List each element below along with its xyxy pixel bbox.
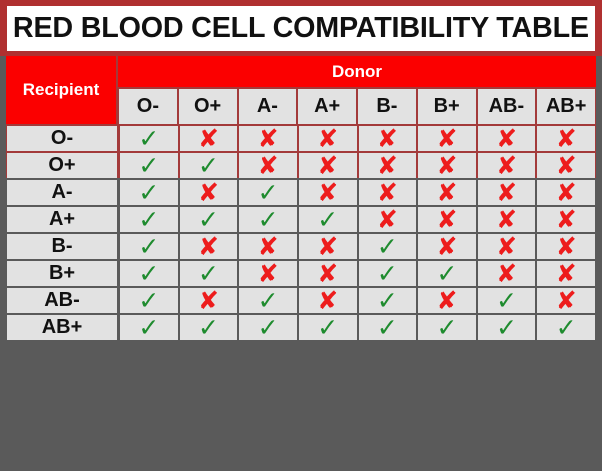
incompatible-cross-icon: ✘ bbox=[556, 207, 577, 232]
table-row: A+✓✓✓✓✘✘✘✘ bbox=[6, 205, 596, 232]
compatibility-cell: ✓ bbox=[299, 315, 357, 340]
incompatible-cross-icon: ✘ bbox=[198, 180, 219, 205]
incompatible-cross-icon: ✘ bbox=[496, 126, 517, 151]
compatibility-cell: ✓ bbox=[120, 153, 178, 178]
compatibility-cell: ✘ bbox=[359, 180, 417, 205]
compatibility-cell: ✘ bbox=[478, 207, 536, 232]
incompatible-cross-icon: ✘ bbox=[496, 261, 517, 286]
compatibility-cell: ✘ bbox=[478, 126, 536, 151]
incompatible-cross-icon: ✘ bbox=[556, 261, 577, 286]
compatibility-cell: ✘ bbox=[537, 153, 595, 178]
compatibility-cell: ✘ bbox=[537, 234, 595, 259]
table-body: O-✓✘✘✘✘✘✘✘O+✓✓✘✘✘✘✘✘A-✓✘✓✘✘✘✘✘A+✓✓✓✓✘✘✘✘… bbox=[6, 124, 596, 340]
compatibility-cell: ✘ bbox=[537, 261, 595, 286]
compatibility-table-figure: RED BLOOD CELL COMPATIBILITY TABLE Recip… bbox=[0, 0, 602, 471]
compatibility-cell: ✓ bbox=[239, 180, 297, 205]
incompatible-cross-icon: ✘ bbox=[496, 180, 517, 205]
compatibility-cell: ✘ bbox=[180, 288, 238, 313]
compatibility-cell: ✘ bbox=[418, 288, 476, 313]
donor-column-header: A- bbox=[239, 89, 297, 124]
recipient-row-header: B+ bbox=[7, 261, 117, 286]
donor-column-header: AB- bbox=[478, 89, 536, 124]
compatibility-cell: ✘ bbox=[180, 234, 238, 259]
compatibility-cell: ✘ bbox=[418, 207, 476, 232]
donor-type-header-row: O-O+A-A+B-B+AB-AB+ bbox=[118, 87, 596, 124]
incompatible-cross-icon: ✘ bbox=[377, 126, 398, 151]
compatibility-cell: ✓ bbox=[180, 261, 238, 286]
compatible-check-icon: ✓ bbox=[317, 207, 338, 232]
compatible-check-icon: ✓ bbox=[496, 288, 517, 313]
compatibility-cell: ✘ bbox=[359, 126, 417, 151]
compatible-check-icon: ✓ bbox=[138, 126, 159, 151]
incompatible-cross-icon: ✘ bbox=[556, 288, 577, 313]
compatible-check-icon: ✓ bbox=[377, 288, 398, 313]
incompatible-cross-icon: ✘ bbox=[436, 234, 457, 259]
compatibility-cell: ✘ bbox=[299, 288, 357, 313]
compatibility-cell: ✘ bbox=[418, 126, 476, 151]
incompatible-cross-icon: ✘ bbox=[496, 153, 517, 178]
compatibility-cell: ✘ bbox=[537, 180, 595, 205]
recipient-row-header: A+ bbox=[7, 207, 117, 232]
table-row: O-✓✘✘✘✘✘✘✘ bbox=[6, 124, 596, 151]
compatibility-cell: ✘ bbox=[359, 153, 417, 178]
incompatible-cross-icon: ✘ bbox=[436, 288, 457, 313]
table-header: Recipient Donor O-O+A-A+B-B+AB-AB+ bbox=[6, 56, 596, 124]
title-bar: RED BLOOD CELL COMPATIBILITY TABLE bbox=[0, 0, 602, 56]
compatibility-cell: ✘ bbox=[418, 180, 476, 205]
incompatible-cross-icon: ✘ bbox=[198, 288, 219, 313]
compatibility-cell: ✓ bbox=[120, 234, 178, 259]
donor-column-header: O+ bbox=[179, 89, 237, 124]
compatibility-cell: ✘ bbox=[239, 261, 297, 286]
incompatible-cross-icon: ✘ bbox=[258, 261, 279, 286]
compatibility-cell: ✓ bbox=[120, 288, 178, 313]
incompatible-cross-icon: ✘ bbox=[317, 153, 338, 178]
recipient-row-header: O- bbox=[7, 126, 117, 151]
recipient-axis-label: Recipient bbox=[6, 56, 116, 124]
incompatible-cross-icon: ✘ bbox=[317, 180, 338, 205]
incompatible-cross-icon: ✘ bbox=[436, 153, 457, 178]
compatible-check-icon: ✓ bbox=[436, 315, 457, 340]
incompatible-cross-icon: ✘ bbox=[436, 126, 457, 151]
compatibility-cell: ✘ bbox=[478, 153, 536, 178]
donor-column-header: B- bbox=[358, 89, 416, 124]
compatibility-cell: ✘ bbox=[478, 180, 536, 205]
compatible-check-icon: ✓ bbox=[258, 207, 279, 232]
donor-column-header: B+ bbox=[418, 89, 476, 124]
recipient-row-header: AB+ bbox=[7, 315, 117, 340]
compatible-check-icon: ✓ bbox=[377, 234, 398, 259]
donor-header-group: Donor O-O+A-A+B-B+AB-AB+ bbox=[118, 56, 596, 124]
compatibility-cell: ✘ bbox=[180, 180, 238, 205]
compatibility-cell: ✓ bbox=[299, 207, 357, 232]
compatible-check-icon: ✓ bbox=[138, 261, 159, 286]
incompatible-cross-icon: ✘ bbox=[317, 234, 338, 259]
incompatible-cross-icon: ✘ bbox=[377, 207, 398, 232]
compatibility-grid: Recipient Donor O-O+A-A+B-B+AB-AB+ O-✓✘✘… bbox=[0, 56, 602, 471]
incompatible-cross-icon: ✘ bbox=[377, 153, 398, 178]
compatibility-cell: ✘ bbox=[180, 126, 238, 151]
compatibility-cell: ✓ bbox=[418, 315, 476, 340]
compatible-check-icon: ✓ bbox=[377, 315, 398, 340]
compatibility-cell: ✘ bbox=[239, 234, 297, 259]
compatibility-cell: ✓ bbox=[239, 288, 297, 313]
compatibility-cell: ✓ bbox=[120, 207, 178, 232]
compatible-check-icon: ✓ bbox=[198, 261, 219, 286]
incompatible-cross-icon: ✘ bbox=[496, 207, 517, 232]
incompatible-cross-icon: ✘ bbox=[556, 234, 577, 259]
compatibility-cell: ✘ bbox=[299, 153, 357, 178]
compatibility-cell: ✘ bbox=[478, 261, 536, 286]
compatible-check-icon: ✓ bbox=[138, 315, 159, 340]
incompatible-cross-icon: ✘ bbox=[317, 261, 338, 286]
compatible-check-icon: ✓ bbox=[377, 261, 398, 286]
compatibility-cell: ✓ bbox=[120, 261, 178, 286]
compatibility-cell: ✘ bbox=[537, 126, 595, 151]
compatibility-cell: ✘ bbox=[478, 234, 536, 259]
compatibility-cell: ✓ bbox=[537, 315, 595, 340]
compatibility-cell: ✓ bbox=[239, 207, 297, 232]
compatibility-cell: ✘ bbox=[299, 126, 357, 151]
compatible-check-icon: ✓ bbox=[198, 153, 219, 178]
compatibility-cell: ✘ bbox=[418, 153, 476, 178]
compatible-check-icon: ✓ bbox=[198, 315, 219, 340]
donor-column-header: O- bbox=[119, 89, 177, 124]
recipient-row-header: A- bbox=[7, 180, 117, 205]
compatible-check-icon: ✓ bbox=[556, 315, 577, 340]
table-row: AB-✓✘✓✘✓✘✓✘ bbox=[6, 286, 596, 313]
incompatible-cross-icon: ✘ bbox=[198, 234, 219, 259]
table-row: A-✓✘✓✘✘✘✘✘ bbox=[6, 178, 596, 205]
compatibility-cell: ✓ bbox=[120, 126, 178, 151]
compatible-check-icon: ✓ bbox=[258, 315, 279, 340]
donor-column-header: AB+ bbox=[537, 89, 595, 124]
compatibility-cell: ✘ bbox=[537, 288, 595, 313]
compatibility-cell: ✓ bbox=[120, 180, 178, 205]
compatibility-cell: ✓ bbox=[418, 261, 476, 286]
incompatible-cross-icon: ✘ bbox=[556, 180, 577, 205]
incompatible-cross-icon: ✘ bbox=[258, 234, 279, 259]
incompatible-cross-icon: ✘ bbox=[258, 126, 279, 151]
incompatible-cross-icon: ✘ bbox=[317, 126, 338, 151]
donor-axis-label: Donor bbox=[118, 56, 596, 87]
compatible-check-icon: ✓ bbox=[258, 288, 279, 313]
recipient-row-header: AB- bbox=[7, 288, 117, 313]
title-plate: RED BLOOD CELL COMPATIBILITY TABLE bbox=[7, 6, 595, 51]
compatibility-cell: ✘ bbox=[418, 234, 476, 259]
compatibility-cell: ✘ bbox=[299, 261, 357, 286]
compatible-check-icon: ✓ bbox=[138, 288, 159, 313]
compatibility-cell: ✘ bbox=[359, 207, 417, 232]
table-row: O+✓✓✘✘✘✘✘✘ bbox=[6, 151, 596, 178]
compatibility-cell: ✓ bbox=[180, 153, 238, 178]
compatibility-cell: ✓ bbox=[359, 315, 417, 340]
compatibility-cell: ✓ bbox=[359, 261, 417, 286]
compatibility-cell: ✓ bbox=[478, 315, 536, 340]
page-title: RED BLOOD CELL COMPATIBILITY TABLE bbox=[13, 12, 589, 45]
compatible-check-icon: ✓ bbox=[258, 180, 279, 205]
compatibility-cell: ✘ bbox=[239, 153, 297, 178]
table-row: AB+✓✓✓✓✓✓✓✓ bbox=[6, 313, 596, 340]
compatible-check-icon: ✓ bbox=[138, 153, 159, 178]
compatible-check-icon: ✓ bbox=[198, 207, 219, 232]
compatible-check-icon: ✓ bbox=[496, 315, 517, 340]
compatibility-cell: ✘ bbox=[299, 180, 357, 205]
incompatible-cross-icon: ✘ bbox=[556, 153, 577, 178]
compatibility-cell: ✘ bbox=[239, 126, 297, 151]
compatible-check-icon: ✓ bbox=[138, 180, 159, 205]
table-row: B+✓✓✘✘✓✓✘✘ bbox=[6, 259, 596, 286]
incompatible-cross-icon: ✘ bbox=[377, 180, 398, 205]
compatible-check-icon: ✓ bbox=[138, 234, 159, 259]
compatibility-cell: ✓ bbox=[180, 315, 238, 340]
compatibility-cell: ✘ bbox=[299, 234, 357, 259]
compatibility-cell: ✓ bbox=[359, 288, 417, 313]
incompatible-cross-icon: ✘ bbox=[436, 180, 457, 205]
donor-column-header: A+ bbox=[298, 89, 356, 124]
compatibility-cell: ✘ bbox=[537, 207, 595, 232]
incompatible-cross-icon: ✘ bbox=[556, 126, 577, 151]
compatibility-cell: ✓ bbox=[359, 234, 417, 259]
compatibility-cell: ✓ bbox=[239, 315, 297, 340]
compatibility-cell: ✓ bbox=[478, 288, 536, 313]
incompatible-cross-icon: ✘ bbox=[317, 288, 338, 313]
compatible-check-icon: ✓ bbox=[138, 207, 159, 232]
incompatible-cross-icon: ✘ bbox=[258, 153, 279, 178]
recipient-row-header: O+ bbox=[7, 153, 117, 178]
compatibility-cell: ✓ bbox=[180, 207, 238, 232]
recipient-row-header: B- bbox=[7, 234, 117, 259]
compatibility-cell: ✓ bbox=[120, 315, 178, 340]
compatible-check-icon: ✓ bbox=[317, 315, 338, 340]
incompatible-cross-icon: ✘ bbox=[496, 234, 517, 259]
incompatible-cross-icon: ✘ bbox=[198, 126, 219, 151]
compatible-check-icon: ✓ bbox=[436, 261, 457, 286]
incompatible-cross-icon: ✘ bbox=[436, 207, 457, 232]
table-row: B-✓✘✘✘✓✘✘✘ bbox=[6, 232, 596, 259]
